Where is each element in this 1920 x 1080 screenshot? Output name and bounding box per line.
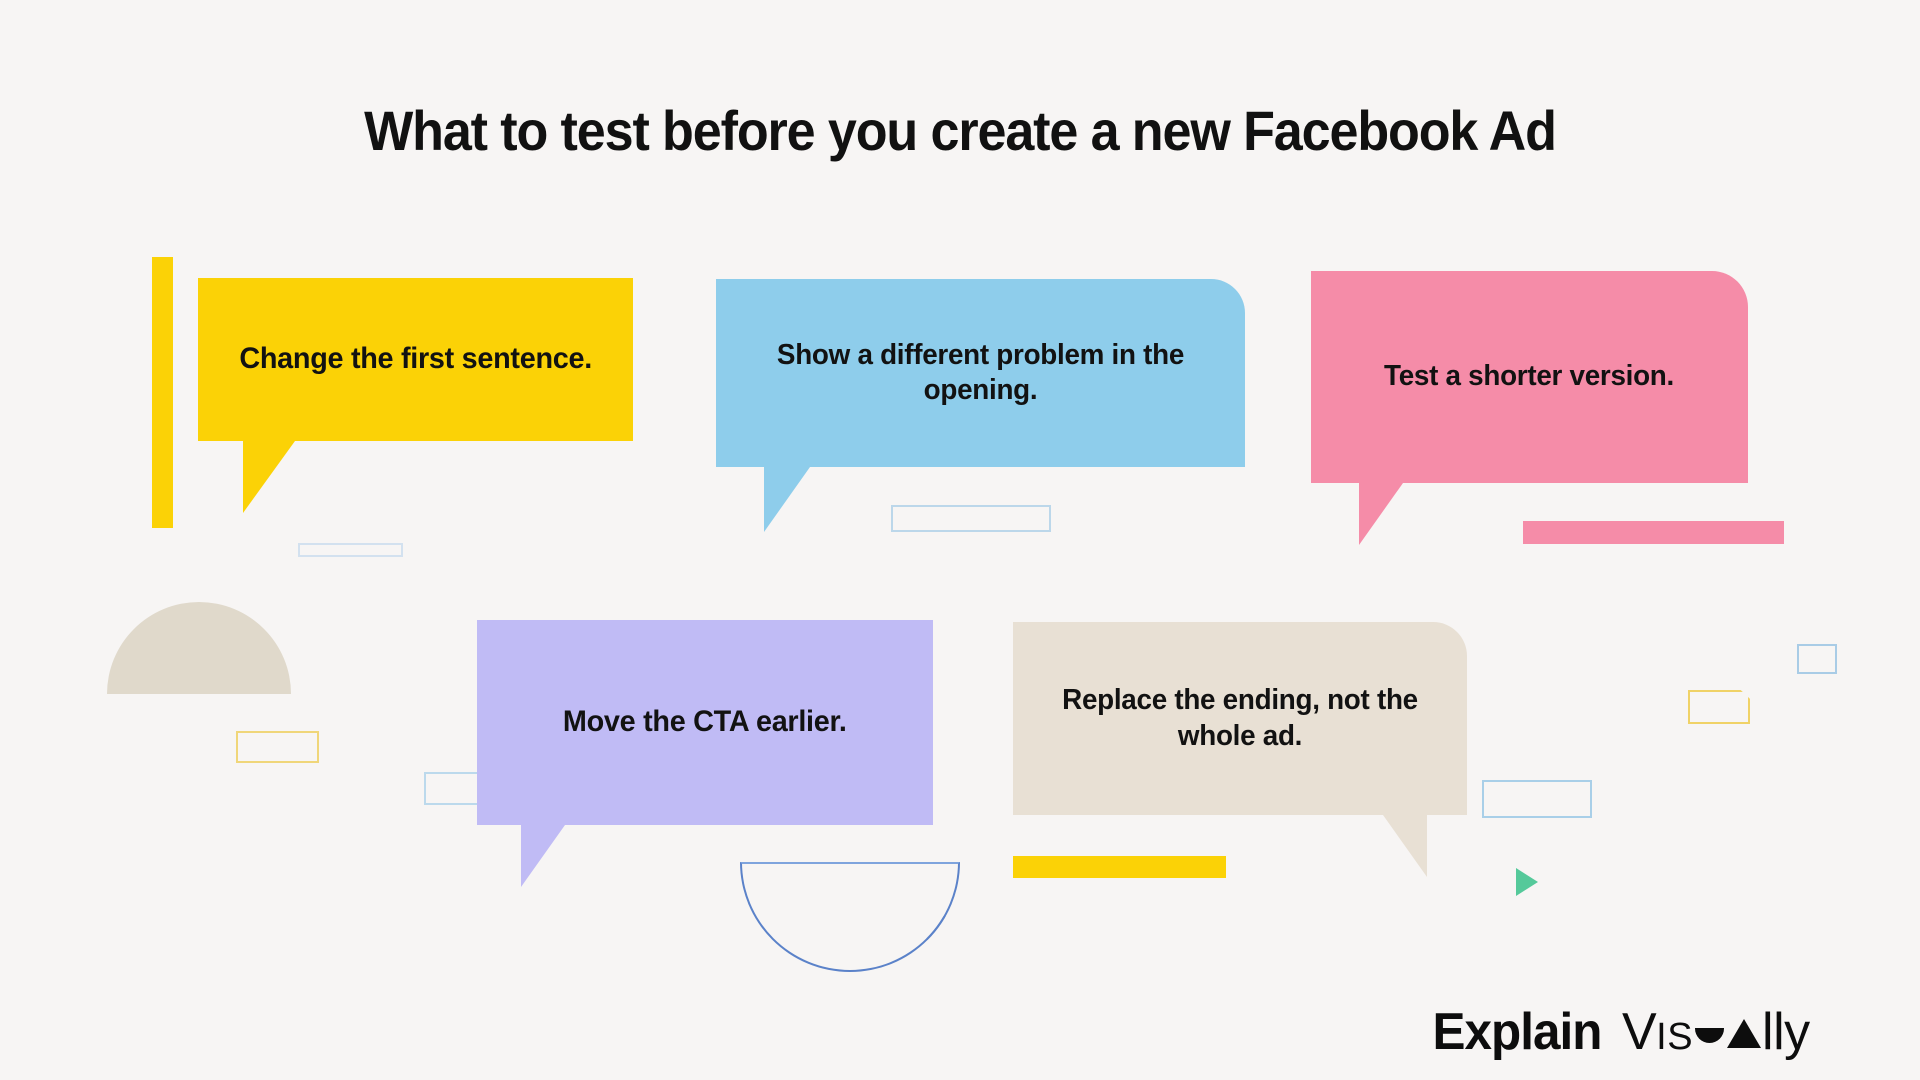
accent-bar-yellow (152, 257, 173, 528)
bar-pink (1523, 521, 1784, 544)
rect-yellow-left-icon (236, 731, 319, 763)
page-title: What to test before you create a new Fac… (67, 98, 1853, 163)
rect-yellow-clipped-corner-icon (1688, 690, 1750, 724)
rect-blue-under-yellow-icon (298, 543, 403, 557)
bubble-body-yellow: Change the first sentence. (198, 278, 633, 441)
bubble-text-beige: Replace the ending, not the whole ad. (1022, 683, 1458, 754)
bubble-text-yellow: Change the first sentence. (214, 341, 617, 378)
bubble-tail-blue-icon (764, 467, 810, 532)
speech-bubble-move-cta-earlier: Move the CTA earlier. (477, 620, 933, 825)
logo-word-visually: VISlly (1622, 1002, 1810, 1062)
play-triangle-green-icon (1516, 868, 1538, 896)
brand-logo: Explain VISlly (1428, 1002, 1810, 1062)
logo-letter-v: V (1622, 1002, 1656, 1062)
rect-blue-right-beige-icon (1482, 780, 1592, 818)
speech-bubble-change-first-sentence: Change the first sentence. (198, 278, 633, 441)
bubble-tail-pink-icon (1359, 483, 1403, 545)
half-disc-beige-icon (107, 602, 291, 694)
bubble-tail-purple-icon (521, 825, 565, 887)
bubble-body-beige: Replace the ending, not the whole ad. (1013, 622, 1467, 815)
bar-yellow-bottom (1013, 856, 1226, 878)
rect-blue-under-blue-icon (891, 505, 1051, 532)
bubble-body-purple: Move the CTA earlier. (477, 620, 933, 825)
bubble-body-pink: Test a shorter version. (1311, 271, 1748, 483)
speech-bubble-replace-the-ending: Replace the ending, not the whole ad. (1013, 622, 1467, 815)
bubble-text-purple: Move the CTA earlier. (538, 704, 872, 741)
logo-u-half-disc-icon (1695, 1028, 1724, 1043)
bubble-text-pink: Test a shorter version. (1360, 359, 1700, 394)
speech-bubble-show-different-problem: Show a different problem in the opening. (716, 279, 1245, 467)
rect-blue-tiny-icon (1797, 644, 1837, 674)
speech-bubble-test-shorter-version: Test a shorter version. (1311, 271, 1748, 483)
logo-letters-lly: lly (1762, 1002, 1810, 1062)
bubble-body-blue: Show a different problem in the opening. (716, 279, 1245, 467)
bubble-tail-beige-icon (1383, 815, 1427, 877)
logo-a-triangle-icon (1727, 1019, 1761, 1048)
logo-word-explain: Explain (1432, 1002, 1601, 1062)
bubble-tail-yellow-icon (243, 441, 295, 513)
logo-letters-is: IS (1656, 1016, 1693, 1059)
half-disc-blue-outline-icon (740, 862, 960, 972)
bubble-text-blue: Show a different problem in the opening. (727, 338, 1235, 409)
infographic-canvas: What to test before you create a new Fac… (0, 0, 1920, 1080)
